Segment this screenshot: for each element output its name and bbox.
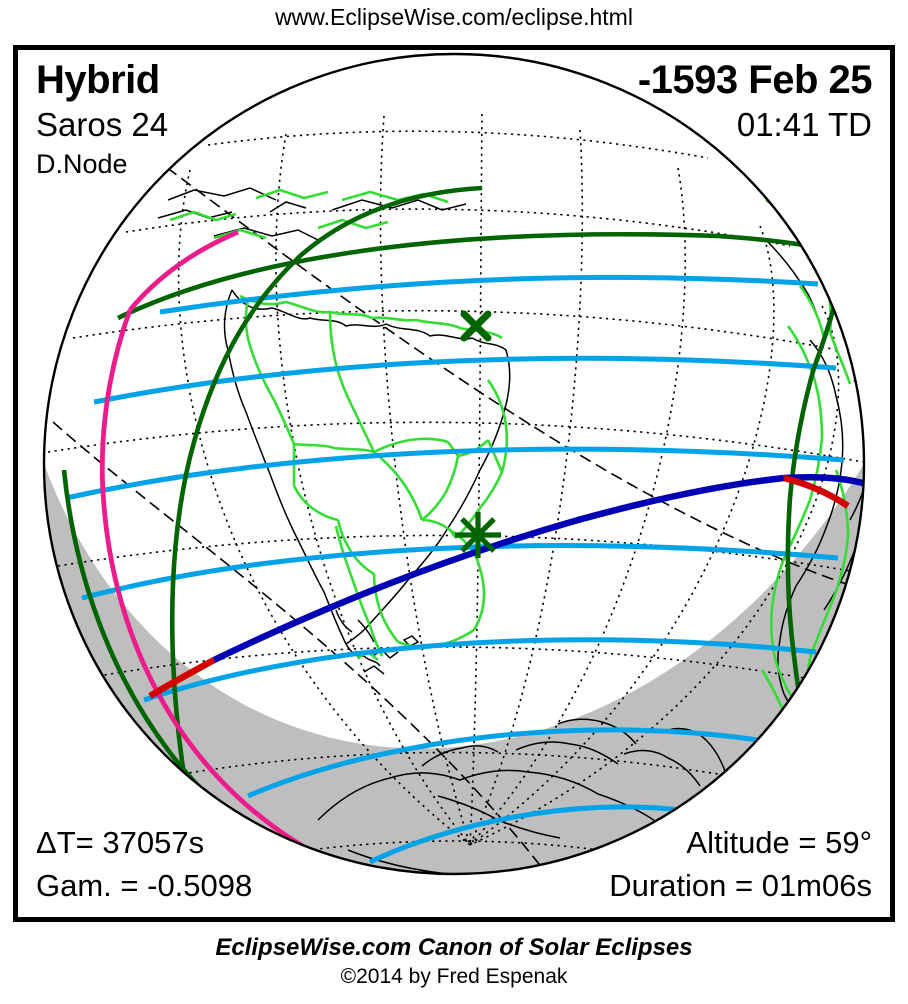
duration-label: Duration = 01m06s (609, 868, 872, 904)
marker-greatest-eclipse (464, 314, 488, 338)
delta-t-label: ΔT= 37057s (36, 825, 204, 861)
node-label: D.Node (36, 149, 128, 180)
copyright-notice: ©2014 by Fred Espenak (0, 965, 908, 989)
altitude-label: Altitude = 59° (686, 825, 872, 861)
eclipse-type-label: Hybrid (36, 58, 160, 103)
globe-diagram (18, 50, 890, 917)
gamma-label: Gam. = -0.5098 (36, 868, 252, 904)
saros-label: Saros 24 (36, 106, 168, 144)
source-url: www.EclipseWise.com/eclipse.html (0, 4, 908, 30)
marker-subsolar-point (455, 512, 501, 558)
eclipse-map-frame: Hybrid Saros 24 D.Node -1593 Feb 25 01:4… (13, 45, 895, 922)
eclipse-date-label: -1593 Feb 25 (638, 58, 872, 103)
eclipse-time-label: 01:41 TD (737, 106, 872, 144)
publication-title: EclipseWise.com Canon of Solar Eclipses (0, 934, 908, 962)
